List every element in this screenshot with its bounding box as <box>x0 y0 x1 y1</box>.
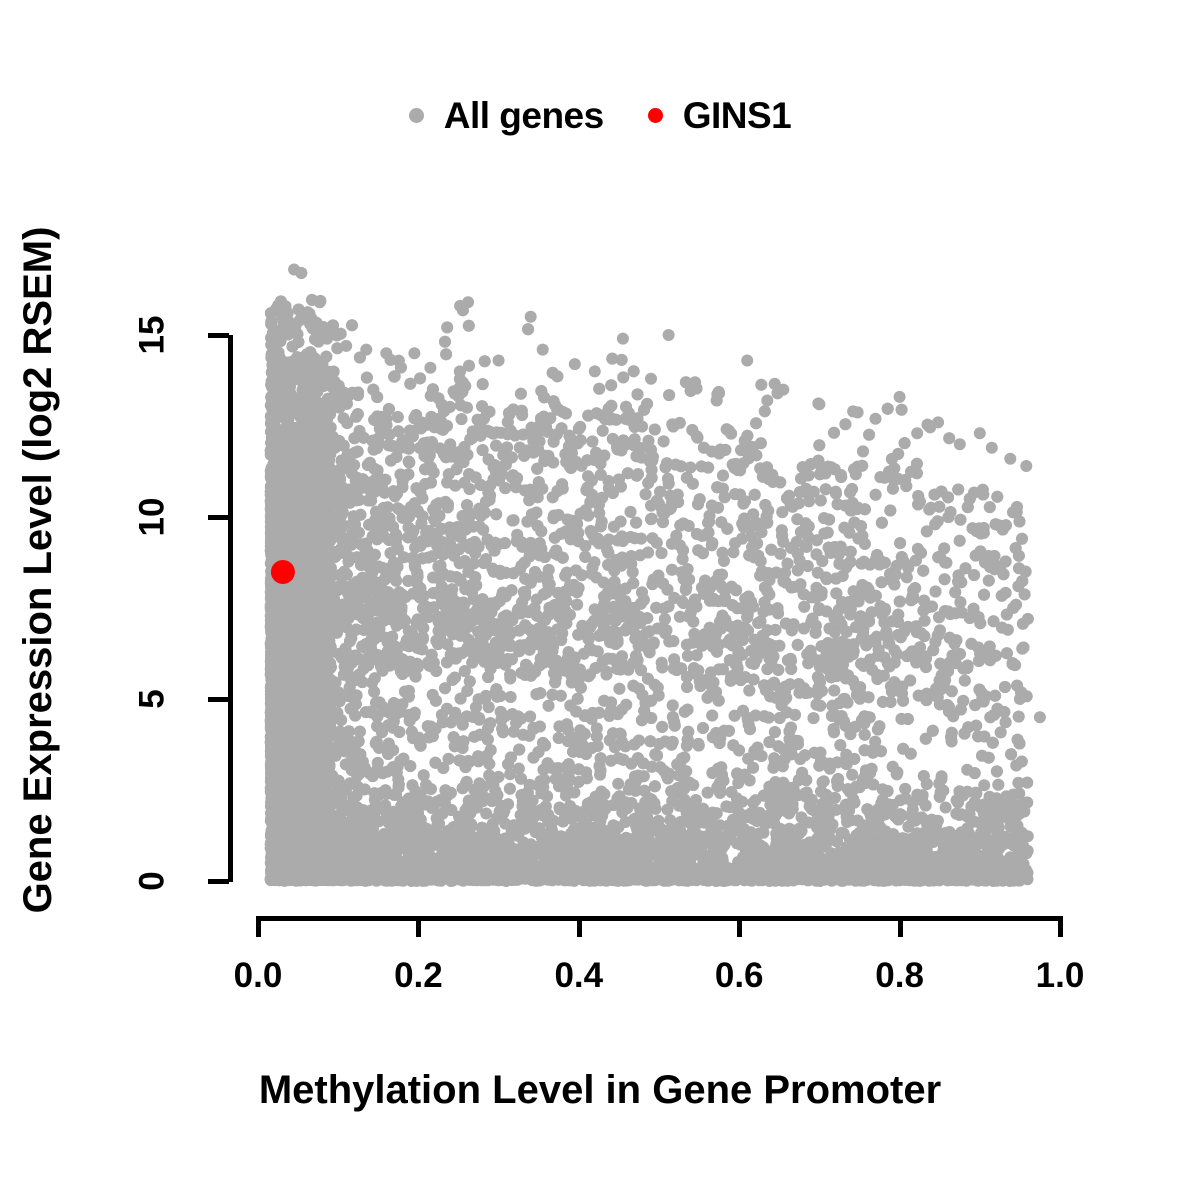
x-tick-mark <box>256 916 261 937</box>
filled-circle-icon <box>409 108 424 123</box>
x-tick-mark <box>898 916 903 937</box>
y-axis-title: Gene Expression Level (log2 RSEM) <box>18 227 58 914</box>
y-tick-label: 15 <box>135 316 170 355</box>
x-tick-label: 0.2 <box>394 958 443 993</box>
x-tick-label: 0.8 <box>875 958 924 993</box>
x-axis-title: Methylation Level in Gene Promoter <box>0 1070 1200 1110</box>
legend: All genesGINS1 <box>0 84 1200 146</box>
x-tick-label: 0.4 <box>554 958 603 993</box>
legend-entry-2: GINS1 <box>648 97 792 134</box>
x-tick-label: 1.0 <box>1036 958 1085 993</box>
plot-area <box>258 335 1060 881</box>
x-tick-mark <box>737 916 742 937</box>
legend-label: All genes <box>444 97 604 134</box>
x-tick-label: 0.0 <box>234 958 283 993</box>
x-tick-mark <box>1058 916 1063 937</box>
x-tick-label: 0.6 <box>715 958 764 993</box>
x-tick-mark <box>416 916 421 937</box>
data-points-layer <box>218 225 1100 901</box>
scatter-plot-figure: All genesGINS1 051015 Gene Expression Le… <box>0 0 1200 1200</box>
legend-label: GINS1 <box>683 97 792 134</box>
y-tick-label: 5 <box>135 689 170 708</box>
filled-circle-icon <box>648 108 663 123</box>
y-tick-label: 0 <box>135 871 170 890</box>
y-tick-label: 10 <box>135 498 170 537</box>
legend-entry-1: All genes <box>409 97 604 134</box>
x-tick-mark <box>577 916 582 937</box>
x-axis-line <box>258 916 1061 921</box>
